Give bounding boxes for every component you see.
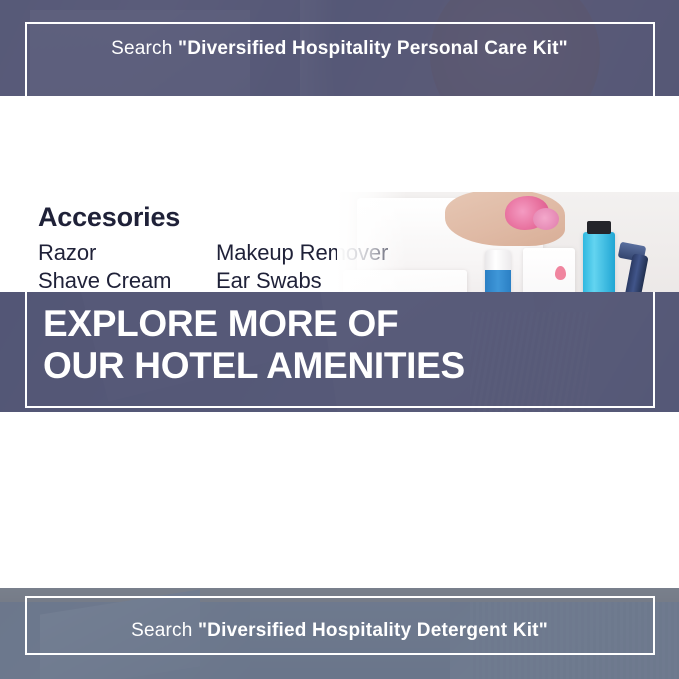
bottom-banner-text: Search "Diversified Hospitality Detergen… bbox=[0, 620, 679, 642]
orchid-flower-secondary-icon bbox=[533, 208, 559, 230]
accessories-section: Accesories Razor Shave Cream Tooth Brush… bbox=[0, 96, 679, 292]
list-item: Razor bbox=[38, 239, 171, 267]
personal-care-pouch bbox=[523, 248, 575, 292]
top-search-term: "Diversified Hospitality Personal Care K… bbox=[178, 38, 568, 59]
explore-headline: EXPLORE MORE OF OUR HOTEL AMENITIES bbox=[43, 303, 465, 387]
top-search-banner: Search "Diversified Hospitality Personal… bbox=[0, 0, 679, 96]
explore-headline-line-2: OUR HOTEL AMENITIES bbox=[43, 345, 465, 387]
shave-cream-label bbox=[485, 270, 511, 292]
infographic-page: Search "Diversified Hospitality Personal… bbox=[0, 0, 679, 679]
bottom-search-banner: Search "Diversified Hospitality Detergen… bbox=[0, 588, 679, 679]
razor-handle bbox=[617, 253, 648, 292]
explore-banner: EXPLORE MORE OF OUR HOTEL AMENITIES bbox=[0, 292, 679, 412]
mouthwash-cap bbox=[587, 221, 611, 234]
shave-cream-tube bbox=[485, 250, 511, 292]
personal-care-kit-photo bbox=[337, 192, 679, 292]
top-search-lead: Search bbox=[111, 38, 178, 59]
accessories-column-1: Razor Shave Cream Tooth Brush Tooth Past… bbox=[38, 239, 171, 292]
mouthwash-bottle bbox=[583, 232, 615, 292]
explore-headline-line-1: EXPLORE MORE OF bbox=[43, 303, 465, 345]
bottom-search-lead: Search bbox=[131, 620, 198, 641]
pouch-accent-icon bbox=[555, 266, 566, 280]
bottom-search-term: "Diversified Hospitality Detergent Kit" bbox=[198, 620, 548, 641]
top-banner-text: Search "Diversified Hospitality Personal… bbox=[0, 38, 679, 60]
photo-left-fade bbox=[337, 192, 407, 292]
accessories-heading: Accesories bbox=[38, 202, 180, 233]
detergents-section: Dear Valued Guest Welcome to our home! P… bbox=[0, 412, 679, 588]
list-item: Shave Cream bbox=[38, 267, 171, 292]
